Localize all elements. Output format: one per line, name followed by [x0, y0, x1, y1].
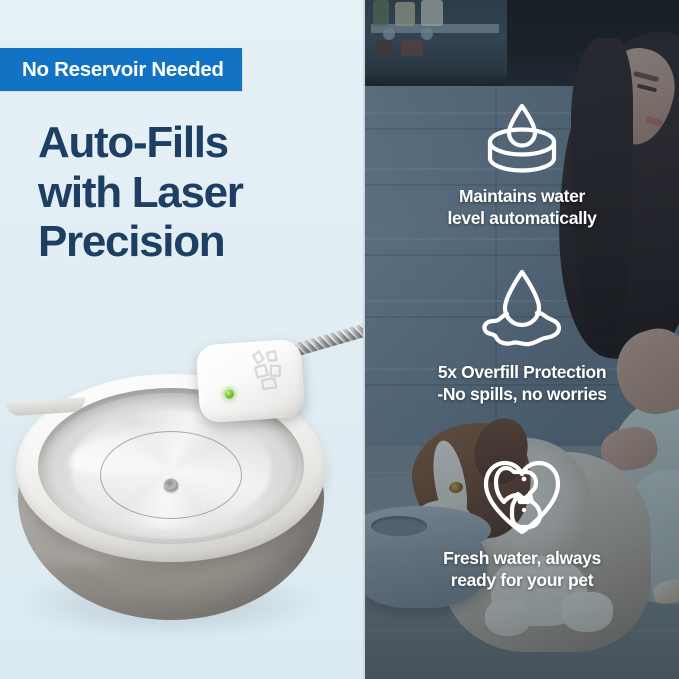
headline-line-2: with Laser — [38, 168, 358, 218]
status-led-indicator — [225, 389, 235, 399]
right-panel: Maintains water level automatically 5x O… — [365, 0, 679, 679]
feature-line-2: -No spills, no worries — [365, 383, 679, 405]
headline-line-1: Auto-Fills — [38, 118, 358, 168]
pet-logo-icon — [245, 347, 292, 392]
droplet-spill-icon — [474, 266, 570, 352]
feature-fresh-water: Fresh water, always ready for your pet — [365, 452, 679, 592]
water-bowl-droplet-icon — [476, 96, 568, 176]
feature-list: Maintains water level automatically 5x O… — [365, 0, 679, 679]
supply-hose — [292, 321, 363, 357]
product-image-fountain — [0, 330, 363, 679]
badge-no-reservoir: No Reservoir Needed — [0, 48, 242, 91]
page-title: Auto-Fills with Laser Precision — [38, 118, 358, 267]
feature-caption: Maintains water level automatically — [365, 185, 679, 230]
feature-overfill-protection: 5x Overfill Protection -No spills, no wo… — [365, 266, 679, 406]
feature-caption: Fresh water, always ready for your pet — [365, 547, 679, 592]
feature-caption: 5x Overfill Protection -No spills, no wo… — [365, 361, 679, 406]
feature-line-2: ready for your pet — [365, 569, 679, 591]
panel-divider — [363, 0, 365, 679]
headline-line-3: Precision — [38, 217, 358, 267]
dog-cat-heart-icon — [474, 452, 570, 538]
feature-line-1: Fresh water, always — [365, 547, 679, 569]
feature-maintains-water-level: Maintains water level automatically — [365, 96, 679, 230]
water-ring-mark — [100, 431, 242, 519]
feature-line-1: Maintains water — [365, 185, 679, 207]
feature-line-2: level automatically — [365, 207, 679, 229]
control-module — [195, 338, 305, 423]
fountain-nozzle — [164, 478, 178, 491]
product-feature-poster: No Reservoir Needed Auto-Fills with Lase… — [0, 0, 679, 679]
feature-line-1: 5x Overfill Protection — [365, 361, 679, 383]
left-panel: No Reservoir Needed Auto-Fills with Lase… — [0, 0, 363, 679]
badge-label: No Reservoir Needed — [22, 58, 224, 82]
